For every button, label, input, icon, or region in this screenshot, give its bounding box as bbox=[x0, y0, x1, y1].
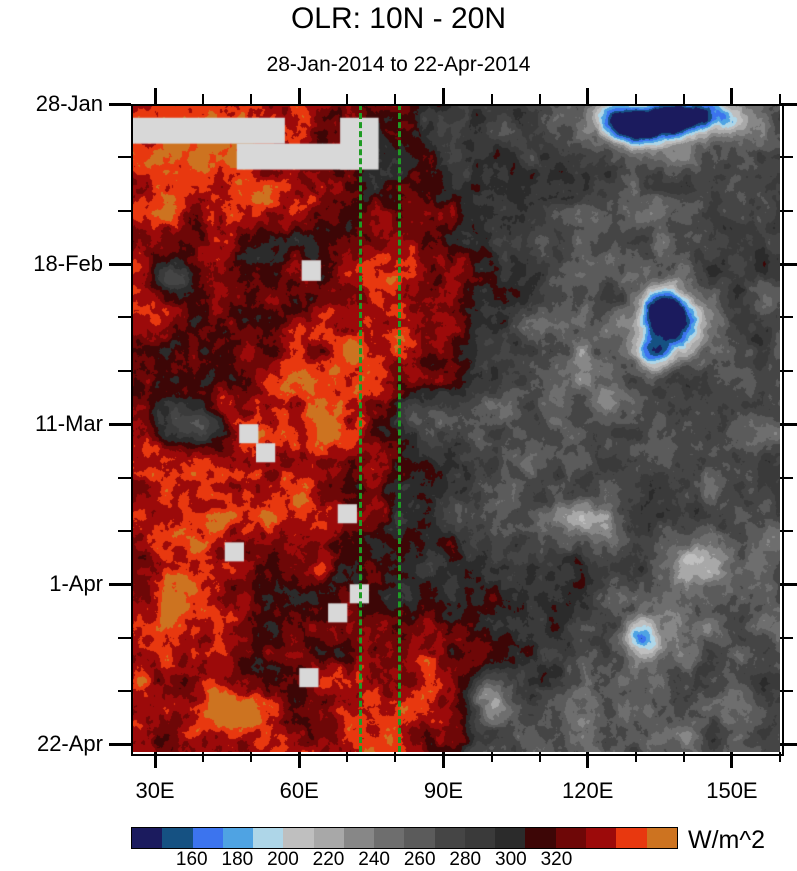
axis-tick bbox=[780, 583, 797, 586]
page-title: OLR: 10N - 20N bbox=[0, 2, 797, 36]
axis-tick bbox=[491, 94, 493, 104]
axis-tick bbox=[118, 530, 131, 532]
axis-tick bbox=[780, 370, 793, 372]
x-axis-label-90E: 90E bbox=[424, 778, 463, 804]
colorbar-cell-11[interactable] bbox=[465, 828, 495, 848]
axis-tick bbox=[109, 583, 131, 586]
axis-tick bbox=[118, 690, 131, 692]
y-axis-label-11-Mar: 11-Mar bbox=[0, 411, 103, 437]
axis-tick bbox=[154, 88, 157, 104]
y-axis-label-22-Apr: 22-Apr bbox=[0, 731, 103, 757]
axis-tick bbox=[780, 477, 793, 479]
x-axis-label-150E: 150E bbox=[706, 778, 757, 804]
axis-tick bbox=[118, 637, 131, 639]
axis-tick bbox=[442, 88, 445, 104]
axis-tick bbox=[779, 752, 781, 762]
x-axis-label-30E: 30E bbox=[135, 778, 174, 804]
axis-tick bbox=[118, 156, 131, 158]
colorbar-cell-16[interactable] bbox=[616, 828, 646, 848]
colorbar-cell-17[interactable] bbox=[647, 828, 677, 848]
axis-tick bbox=[109, 423, 131, 426]
olr-contour-field bbox=[131, 104, 780, 752]
colorbar-label-180: 180 bbox=[222, 849, 254, 871]
axis-tick bbox=[250, 752, 252, 762]
y-axis-label-1-Apr: 1-Apr bbox=[0, 571, 103, 597]
axis-tick bbox=[780, 690, 793, 692]
colorbar-label-200: 200 bbox=[267, 849, 299, 871]
reference-line-0 bbox=[359, 104, 362, 752]
axis-tick bbox=[780, 530, 793, 532]
colorbar-cell-7[interactable] bbox=[344, 828, 374, 848]
colorbar-cell-12[interactable] bbox=[495, 828, 525, 848]
axis-tick bbox=[109, 103, 131, 106]
axis-tick bbox=[780, 156, 793, 158]
colorbar-label-240: 240 bbox=[358, 849, 390, 871]
colorbar-cell-8[interactable] bbox=[374, 828, 404, 848]
colorbar-label-260: 260 bbox=[404, 849, 436, 871]
colorbar-cell-13[interactable] bbox=[525, 828, 555, 848]
axis-tick bbox=[780, 423, 797, 426]
colorbar-label-300: 300 bbox=[495, 849, 527, 871]
x-axis-label-120E: 120E bbox=[562, 778, 613, 804]
axis-tick bbox=[683, 94, 685, 104]
colorbar-cell-0[interactable] bbox=[132, 828, 162, 848]
colorbar-cell-9[interactable] bbox=[404, 828, 434, 848]
axis-tick bbox=[118, 210, 131, 212]
colorbar-cell-6[interactable] bbox=[314, 828, 344, 848]
colorbar-cell-3[interactable] bbox=[223, 828, 253, 848]
colorbar-cell-15[interactable] bbox=[586, 828, 616, 848]
axis-tick bbox=[154, 752, 157, 768]
axis-tick bbox=[780, 743, 797, 746]
colorbar-cell-5[interactable] bbox=[283, 828, 313, 848]
axis-tick bbox=[250, 94, 252, 104]
colorbar-cell-1[interactable] bbox=[162, 828, 192, 848]
axis-tick bbox=[118, 477, 131, 479]
colorbar-cell-10[interactable] bbox=[435, 828, 465, 848]
axis-tick bbox=[202, 752, 204, 762]
colorbar-cell-14[interactable] bbox=[556, 828, 586, 848]
axis-tick bbox=[586, 88, 589, 104]
colorbar[interactable] bbox=[131, 827, 678, 849]
axis-tick bbox=[730, 752, 733, 768]
axis-tick bbox=[635, 94, 637, 104]
page-subtitle: 28-Jan-2014 to 22-Apr-2014 bbox=[0, 53, 797, 77]
colorbar-label-220: 220 bbox=[313, 849, 345, 871]
axis-tick bbox=[780, 210, 793, 212]
axis-tick bbox=[780, 263, 797, 266]
axis-tick bbox=[298, 752, 301, 768]
colorbar-cell-2[interactable] bbox=[193, 828, 223, 848]
axis-tick bbox=[394, 752, 396, 762]
axis-tick bbox=[109, 263, 131, 266]
axis-tick bbox=[118, 316, 131, 318]
axis-tick bbox=[683, 752, 685, 762]
axis-tick bbox=[730, 88, 733, 104]
colorbar-label-280: 280 bbox=[449, 849, 481, 871]
axis-tick bbox=[780, 103, 797, 106]
axis-tick bbox=[635, 752, 637, 762]
colorbar-cell-4[interactable] bbox=[253, 828, 283, 848]
axis-tick bbox=[346, 94, 348, 104]
y-axis-label-28-Jan: 28-Jan bbox=[0, 91, 103, 117]
axis-tick bbox=[491, 752, 493, 762]
axis-tick bbox=[118, 370, 131, 372]
axis-tick bbox=[442, 752, 445, 768]
axis-tick bbox=[394, 94, 396, 104]
axis-tick bbox=[586, 752, 589, 768]
y-axis-label-18-Feb: 18-Feb bbox=[0, 251, 103, 277]
axis-tick bbox=[202, 94, 204, 104]
colorbar-label-160: 160 bbox=[176, 849, 208, 871]
axis-tick bbox=[539, 752, 541, 762]
axis-tick bbox=[780, 316, 793, 318]
x-axis-label-60E: 60E bbox=[280, 778, 319, 804]
reference-line-1 bbox=[398, 104, 401, 752]
axis-tick bbox=[539, 94, 541, 104]
colorbar-unit-label: W/m^2 bbox=[688, 826, 765, 855]
axis-tick bbox=[298, 88, 301, 104]
axis-tick bbox=[780, 637, 793, 639]
hovmoller-plot-area bbox=[131, 104, 780, 752]
axis-tick bbox=[346, 752, 348, 762]
axis-tick bbox=[109, 743, 131, 746]
colorbar-label-320: 320 bbox=[541, 849, 573, 871]
